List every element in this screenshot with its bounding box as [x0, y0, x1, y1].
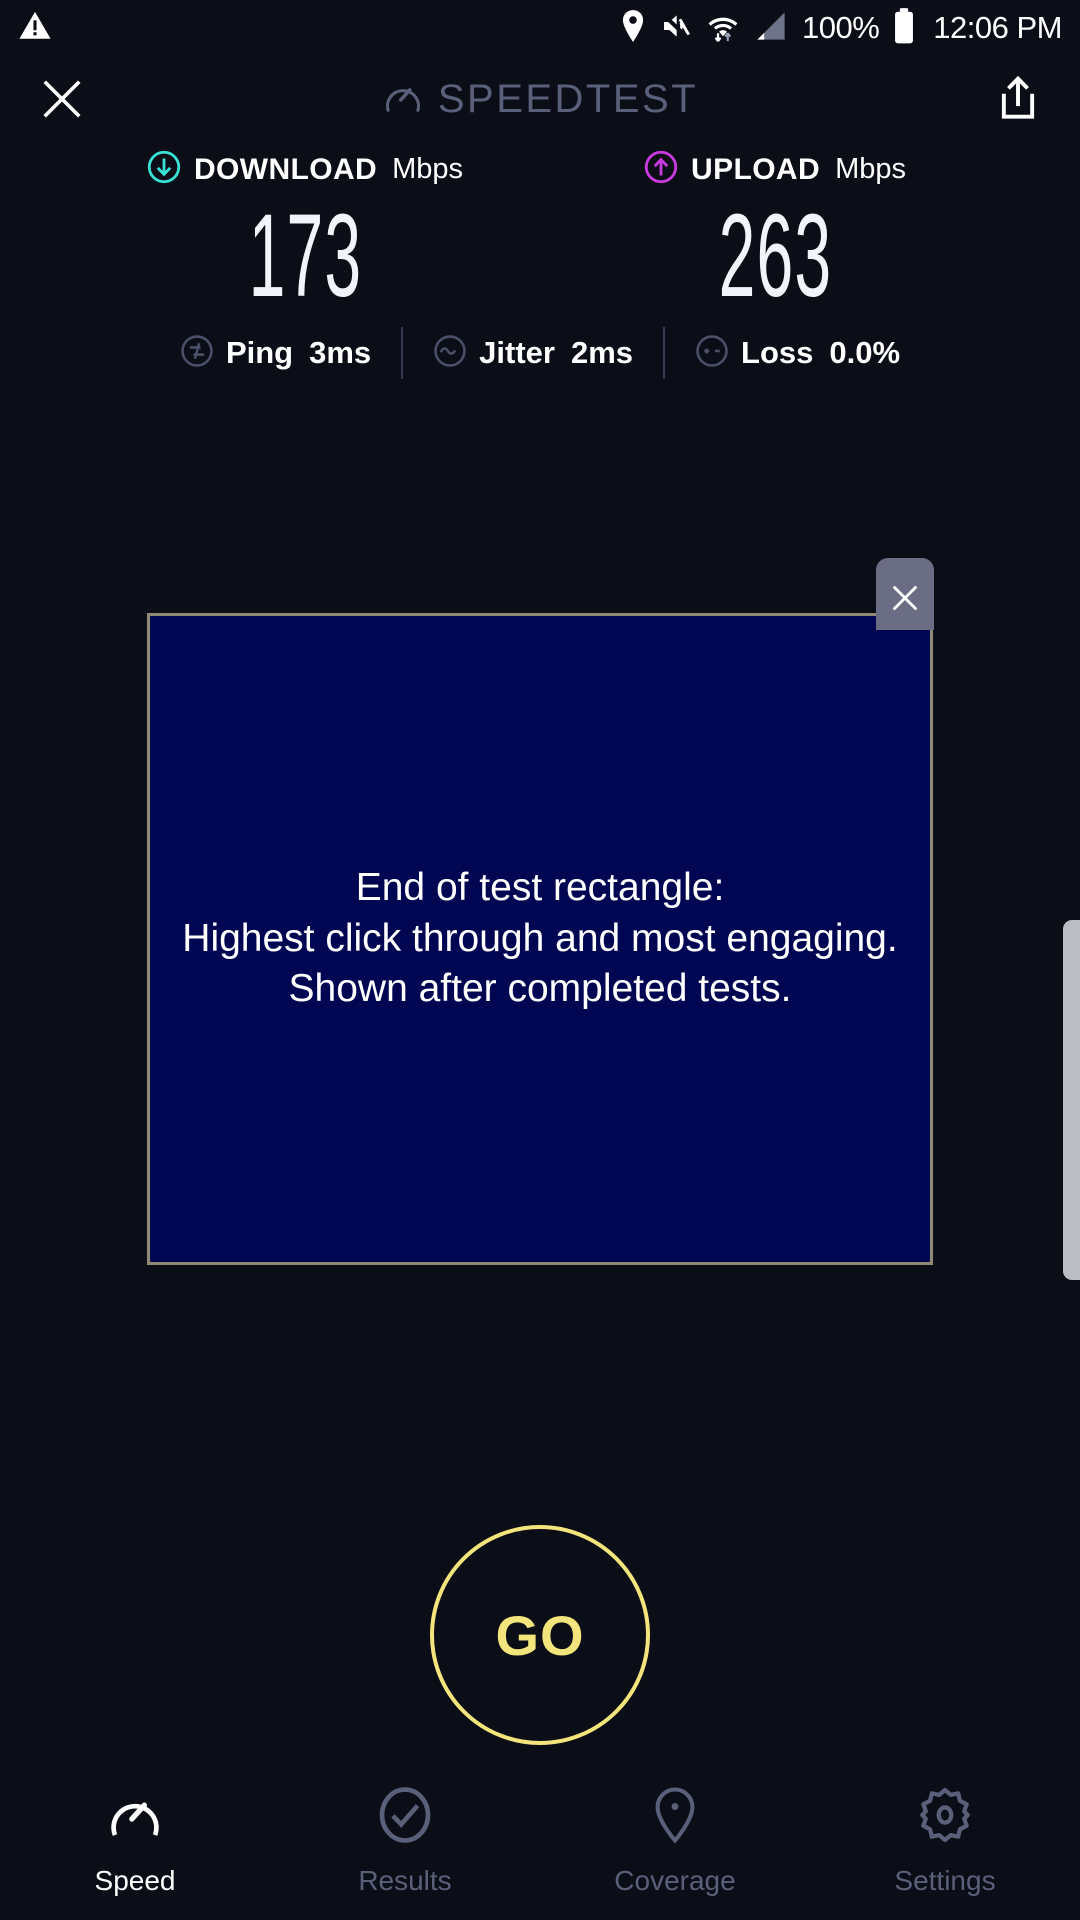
share-button[interactable]	[990, 71, 1046, 127]
ping-icon	[180, 334, 214, 373]
upload-value: 263	[718, 197, 832, 315]
metric-jitter: Jitter 2ms	[403, 334, 663, 373]
download-arrow-icon	[147, 150, 181, 189]
brand: SPEEDTEST	[382, 76, 698, 123]
loss-value: 0.0%	[829, 335, 900, 371]
download-unit: Mbps	[392, 153, 463, 186]
jitter-value: 2ms	[571, 335, 633, 371]
app-header: SPEEDTEST	[0, 56, 1080, 142]
ad-close-button[interactable]	[876, 558, 934, 630]
ad-text-line-2: Highest click through and most engaging.	[182, 914, 897, 965]
status-clock: 12:06 PM	[933, 10, 1062, 46]
volume-muted-icon	[660, 10, 692, 47]
ping-value: 3ms	[309, 335, 371, 371]
ad-text: End of test rectangle: Highest click thr…	[170, 863, 909, 1015]
vertical-scrollbar[interactable]	[1063, 920, 1080, 1280]
close-icon	[39, 76, 85, 122]
download-value: 173	[248, 197, 362, 315]
upload-label: UPLOAD	[691, 153, 820, 187]
bottom-navigation: Speed Results Coverage Settings	[0, 1772, 1080, 1920]
speeds-row: DOWNLOAD Mbps 173 UPLOAD Mbps 263	[0, 142, 1080, 315]
go-button-label: GO	[495, 1603, 584, 1668]
metric-loss: Loss 0.0%	[665, 334, 930, 373]
upload-arrow-icon	[644, 150, 678, 189]
battery-percent-label: 100%	[802, 10, 879, 46]
share-icon	[996, 76, 1040, 122]
ad-text-line-1: End of test rectangle:	[182, 863, 897, 914]
nav-item-speed[interactable]: Speed	[0, 1786, 270, 1897]
download-label: DOWNLOAD	[194, 153, 377, 187]
nav-label-speed: Speed	[95, 1865, 176, 1897]
status-bar: 100% 12:06 PM	[0, 0, 1080, 56]
download-result: DOWNLOAD Mbps 173	[115, 150, 495, 315]
status-bar-right: 100% 12:06 PM	[620, 8, 1062, 49]
nav-item-settings[interactable]: Settings	[810, 1786, 1080, 1897]
upload-unit: Mbps	[835, 153, 906, 186]
location-pin-icon	[620, 9, 646, 48]
nav-label-settings: Settings	[894, 1865, 995, 1897]
nav-label-coverage: Coverage	[614, 1865, 735, 1897]
jitter-icon	[433, 334, 467, 373]
location-pin-icon	[646, 1786, 704, 1849]
metric-ping: Ping 3ms	[150, 334, 401, 373]
loss-icon	[695, 334, 729, 373]
jitter-name: Jitter	[479, 335, 555, 371]
speedometer-icon	[106, 1786, 164, 1849]
gear-icon	[916, 1786, 974, 1849]
ping-name: Ping	[226, 335, 293, 371]
ad-rectangle[interactable]: End of test rectangle: Highest click thr…	[147, 613, 933, 1265]
advertisement: End of test rectangle: Highest click thr…	[147, 613, 933, 1265]
status-bar-left	[18, 9, 52, 48]
nav-item-results[interactable]: Results	[270, 1786, 540, 1897]
page-title: SPEEDTEST	[438, 77, 698, 122]
ad-text-line-3: Shown after completed tests.	[182, 964, 897, 1015]
check-circle-icon	[376, 1786, 434, 1849]
go-button[interactable]: GO	[430, 1525, 650, 1745]
results-panel: DOWNLOAD Mbps 173 UPLOAD Mbps 263	[0, 142, 1080, 379]
loss-name: Loss	[741, 335, 813, 371]
metrics-row: Ping 3ms Jitter 2ms	[0, 327, 1080, 379]
close-icon	[888, 581, 922, 615]
cellular-signal-icon	[754, 11, 788, 46]
speedometer-icon	[382, 76, 424, 123]
download-label-row: DOWNLOAD Mbps	[147, 150, 463, 189]
upload-label-row: UPLOAD Mbps	[644, 150, 906, 189]
nav-item-coverage[interactable]: Coverage	[540, 1786, 810, 1897]
battery-full-icon	[893, 8, 915, 49]
warning-triangle-icon	[18, 9, 52, 48]
wifi-transfer-icon	[706, 9, 740, 48]
close-button[interactable]	[34, 71, 90, 127]
nav-label-results: Results	[358, 1865, 451, 1897]
upload-result: UPLOAD Mbps 263	[585, 150, 965, 315]
